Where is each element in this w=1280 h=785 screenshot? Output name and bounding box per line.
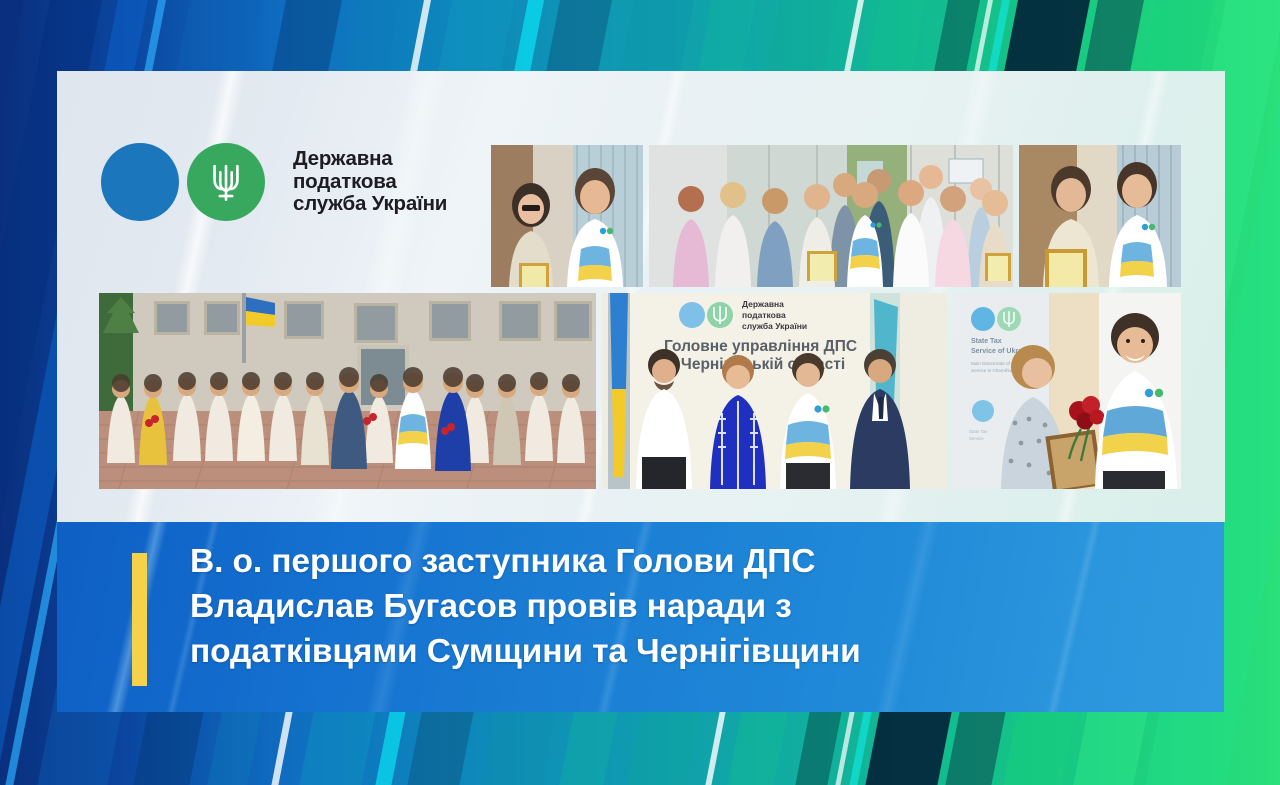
photo-bottom-middle: Державна податкова служба України Головн… bbox=[602, 293, 947, 489]
photo-top-right bbox=[1019, 145, 1181, 287]
content-card: Державна податкова служба України bbox=[57, 71, 1225, 522]
trident-icon bbox=[208, 160, 244, 204]
dps-logo: Державна податкова служба України bbox=[101, 143, 447, 221]
photo-top-left bbox=[491, 145, 643, 287]
photo-bottom-right: State Tax Service of Ukraine Main Direct… bbox=[953, 293, 1181, 489]
svg-text:State Tax: State Tax bbox=[971, 338, 1002, 345]
accent-bar bbox=[132, 553, 147, 686]
svg-text:Service: Service bbox=[969, 436, 984, 441]
photo-top-middle bbox=[649, 145, 1013, 287]
logo-text: Державна податкова служба України bbox=[293, 148, 447, 216]
svg-text:Державна: Державна bbox=[742, 299, 784, 309]
svg-text:служба України: служба України bbox=[742, 321, 807, 331]
svg-text:State Tax: State Tax bbox=[969, 429, 988, 434]
svg-text:Головне управління ДПС: Головне управління ДПС bbox=[664, 338, 857, 355]
headline-band: В. о. першого заступника Голови ДПС Влад… bbox=[57, 522, 1224, 712]
headline-text: В. о. першого заступника Голови ДПС Влад… bbox=[190, 539, 1190, 674]
logo-green-dot-trident bbox=[187, 143, 265, 221]
photo-bottom-left bbox=[99, 293, 596, 489]
svg-text:податкова: податкова bbox=[742, 310, 786, 320]
logo-blue-dot bbox=[101, 143, 179, 221]
